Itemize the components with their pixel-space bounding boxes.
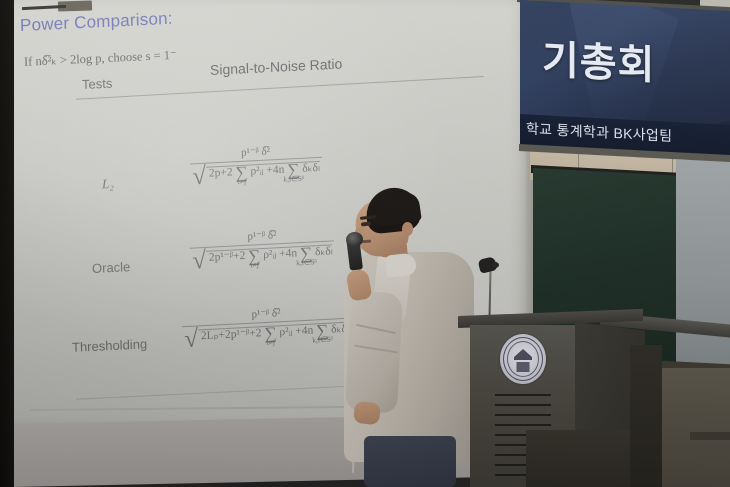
slide-condition-formula: If nδ̅²ₖ > 2log p, choose s = 1⁻ xyxy=(24,47,177,70)
slide-title: Power Comparison: xyxy=(20,9,173,36)
summation-icon: ∑k,l∈Sᵝ xyxy=(300,243,313,263)
denominator-term1: ρ²ᵢⱼ xyxy=(250,165,263,178)
wall-panel-right xyxy=(676,160,730,375)
radical-icon: √ xyxy=(192,247,207,275)
desk-right xyxy=(655,368,730,487)
summation-icon: ∑i≠j xyxy=(248,246,261,266)
denominator-prefix: 2p+2 xyxy=(209,166,233,179)
denominator-term2: δₖδₗ xyxy=(302,162,320,175)
table-row-formula-oracle: p¹⁻ᵝ δ̅² √ 2p¹⁻ᵝ+2 ∑i≠j ρ²ᵢⱼ +4n ∑k,l∈Sᵝ… xyxy=(189,225,335,269)
table-row-label-oracle: Oracle xyxy=(92,259,131,276)
summation-icon: ∑k,l∈Sᵝ xyxy=(287,160,300,180)
summation-subscript: i≠j xyxy=(250,260,259,269)
table-header-rule xyxy=(76,76,484,100)
formula-denominator: √ 2Lₚ+2p¹⁻ᵝ+2 ∑i≠j ρ²ᵢⱼ +4n ∑k,l∈Sᵝ δₖδₗ xyxy=(182,320,351,349)
summation-subscript: k,l∈Sᵝ xyxy=(296,257,317,267)
seal-pagoda-tier xyxy=(514,357,532,360)
table-row-formula-l2: p¹⁻ᵝ δ̅² √ 2p+2 ∑i≠j ρ²ᵢⱼ +4n ∑k,l∈Sᵝ δₖ… xyxy=(189,142,322,186)
presenter xyxy=(330,188,490,487)
summation-icon: ∑i≠j xyxy=(235,163,248,183)
table-row-label-l2: L₂ xyxy=(102,176,114,193)
desk-side-panel xyxy=(630,345,662,487)
radical-icon: √ xyxy=(192,163,207,191)
podium-vent-slot xyxy=(495,414,551,416)
denominator-mid: +4n xyxy=(295,325,313,338)
table-header-signal-to-noise: Signal-to-Noise Ratio xyxy=(210,55,343,78)
podium-vent-slot xyxy=(495,424,551,426)
denominator-mid: +4n xyxy=(279,247,297,260)
desk-shelf xyxy=(690,432,730,440)
denominator-mid: +4n xyxy=(266,164,284,177)
presenter-trousers xyxy=(364,436,456,487)
summation-icon: ∑k,l∈Sᵝ xyxy=(316,321,329,341)
table-header-tests: Tests xyxy=(82,76,113,92)
table-row-formula-thresholding: p¹⁻ᵝ δ̅² √ 2Lₚ+2p¹⁻ᵝ+2 ∑i≠j ρ²ᵢⱼ +4n ∑k,… xyxy=(181,303,351,349)
presenter-ear xyxy=(402,222,413,236)
denominator-term1: ρ²ᵢⱼ xyxy=(279,326,292,339)
table-row-label-thresholding: Thresholding xyxy=(72,336,148,355)
lecture-hall-photo: Power Comparison: If nδ̅²ₖ > 2log p, cho… xyxy=(0,0,730,487)
university-seal-icon xyxy=(500,334,546,384)
podium-vent-slot xyxy=(495,394,551,396)
podium-vent-slot xyxy=(495,404,551,406)
event-banner: 기총회 학교 통계학과 BK사업팀 xyxy=(520,0,730,159)
banner-title: 기총회 xyxy=(542,27,655,91)
denominator-term1: ρ²ᵢⱼ xyxy=(263,248,276,261)
seal-pagoda-base xyxy=(517,362,530,372)
radical-icon: √ xyxy=(184,325,199,353)
floor-area xyxy=(526,430,646,487)
summation-subscript: k,l∈Sᵝ xyxy=(283,174,304,184)
presenter-hand-lower xyxy=(353,401,381,426)
gooseneck-microphone-capsule xyxy=(492,262,499,268)
seal-pagoda-roof xyxy=(514,349,532,357)
denominator-prefix: 2Lₚ+2p¹⁻ᵝ+2 xyxy=(201,327,262,342)
summation-subscript: i≠j xyxy=(238,177,247,186)
denominator-prefix: 2p¹⁻ᵝ+2 xyxy=(209,250,246,264)
summation-icon: ∑i≠j xyxy=(264,323,277,343)
summation-subscript: i≠j xyxy=(266,338,275,347)
